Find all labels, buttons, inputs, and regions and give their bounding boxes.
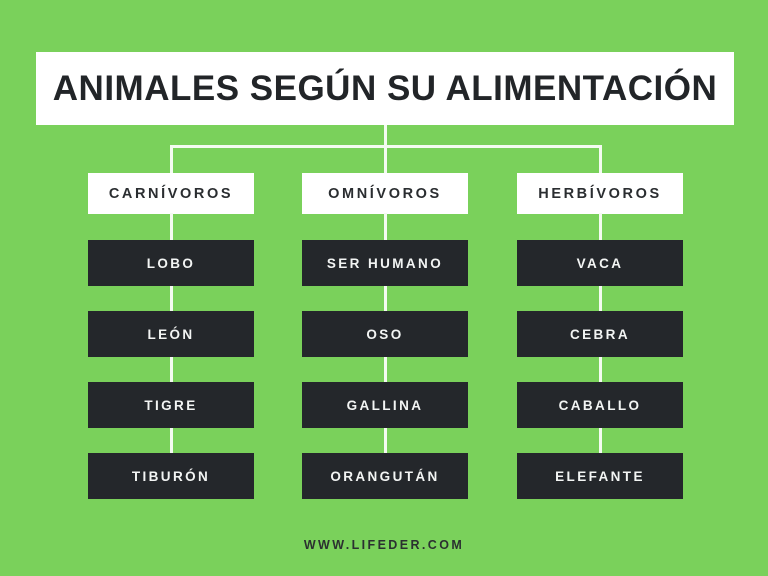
connector-segment	[599, 286, 602, 313]
item-box-cebra[interactable]: CEBRA	[517, 311, 683, 357]
connector-segment	[599, 357, 602, 384]
item-label: TIBURÓN	[132, 469, 210, 484]
connector-segment	[170, 428, 173, 455]
connector-segment	[170, 213, 173, 241]
item-box-tiburon[interactable]: TIBURÓN	[88, 453, 254, 499]
category-header-carnivoros[interactable]: CARNÍVOROS	[88, 173, 254, 214]
title-card: ANIMALES SEGÚN SU ALIMENTACIÓN	[36, 52, 734, 125]
item-label: LEÓN	[147, 327, 194, 342]
item-label: OSO	[366, 327, 403, 342]
connector-segment	[599, 213, 602, 241]
item-label: ORANGUTÁN	[330, 469, 439, 484]
connector-drop-herbivoros	[599, 145, 602, 174]
connector-segment	[170, 286, 173, 313]
connector-segment	[384, 213, 387, 241]
connector-segment	[384, 428, 387, 455]
category-header-label: HERBÍVOROS	[538, 186, 662, 202]
page-title: ANIMALES SEGÚN SU ALIMENTACIÓN	[53, 69, 717, 109]
item-box-tigre[interactable]: TIGRE	[88, 382, 254, 428]
connector-drop-omnivoros	[384, 145, 387, 174]
footer-website-label: WWW.LIFEDER.COM	[304, 538, 464, 552]
item-box-gallina[interactable]: GALLINA	[302, 382, 468, 428]
connector-segment	[599, 428, 602, 455]
connector-trunk	[384, 125, 387, 146]
connector-segment	[170, 357, 173, 384]
connector-segment	[384, 357, 387, 384]
item-label: LOBO	[147, 256, 196, 271]
category-header-label: CARNÍVOROS	[109, 186, 233, 202]
item-label: TIGRE	[144, 398, 197, 413]
infographic-canvas: ANIMALES SEGÚN SU ALIMENTACIÓN CARNÍVORO…	[0, 0, 768, 576]
item-box-caballo[interactable]: CABALLO	[517, 382, 683, 428]
category-header-herbivoros[interactable]: HERBÍVOROS	[517, 173, 683, 214]
item-label: GALLINA	[347, 398, 424, 413]
item-label: CABALLO	[559, 398, 642, 413]
item-label: CEBRA	[570, 327, 630, 342]
connector-segment	[384, 286, 387, 313]
footer: WWW.LIFEDER.COM	[0, 536, 768, 554]
item-box-vaca[interactable]: VACA	[517, 240, 683, 286]
item-label: VACA	[577, 256, 624, 271]
item-box-leon[interactable]: LEÓN	[88, 311, 254, 357]
item-box-oso[interactable]: OSO	[302, 311, 468, 357]
item-label: ELEFANTE	[555, 469, 645, 484]
item-box-lobo[interactable]: LOBO	[88, 240, 254, 286]
item-box-ser-humano[interactable]: SER HUMANO	[302, 240, 468, 286]
category-header-omnivoros[interactable]: OMNÍVOROS	[302, 173, 468, 214]
item-box-orangutan[interactable]: ORANGUTÁN	[302, 453, 468, 499]
item-label: SER HUMANO	[327, 256, 443, 271]
item-box-elefante[interactable]: ELEFANTE	[517, 453, 683, 499]
category-header-label: OMNÍVOROS	[328, 186, 442, 202]
connector-drop-carnivoros	[170, 145, 173, 174]
